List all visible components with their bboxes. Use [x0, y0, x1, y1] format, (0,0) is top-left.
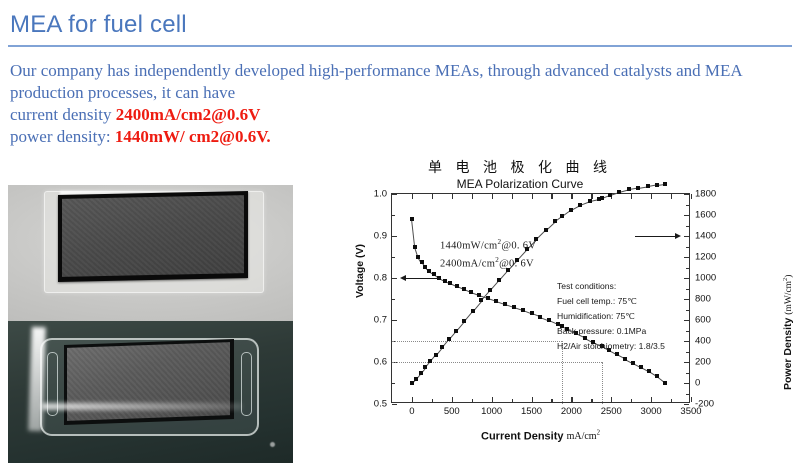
chart-plot-area: 0.50.60.70.80.91.0-200020040060080010001… — [391, 193, 690, 403]
data-point — [443, 279, 447, 283]
title-underline — [8, 45, 792, 47]
x-axis-label-text: Current Density — [481, 430, 567, 442]
x-axis-top-tick — [452, 194, 453, 199]
x-axis-tick-label: 2500 — [601, 402, 622, 417]
y-axis-right-minor-tick — [686, 268, 689, 269]
x-axis-minor-tick — [671, 399, 672, 402]
data-point — [639, 365, 643, 369]
data-point — [530, 311, 534, 315]
current-density-value: 2400mA/cm2@0.6V — [116, 105, 261, 124]
data-point — [647, 369, 651, 373]
y-axis-right-tick-label: 1000 — [689, 273, 716, 284]
data-point — [477, 293, 481, 297]
mea-membrane-top — [58, 191, 248, 282]
x-axis-top-tick — [532, 194, 533, 199]
data-point — [416, 255, 420, 259]
x-axis-minor-tick — [591, 399, 592, 402]
data-point — [623, 357, 627, 361]
y-axis-left-tick-label: 0.5 — [374, 399, 392, 410]
y-axis-right-minor-tick — [686, 310, 689, 311]
data-point — [447, 337, 451, 341]
data-point — [462, 319, 466, 323]
data-point — [627, 187, 631, 191]
data-point — [454, 329, 458, 333]
mea-sample-photo-bottom — [8, 321, 293, 463]
left-axis-arrow-line — [406, 278, 440, 279]
photo-glare-horizontal — [42, 403, 242, 410]
data-point — [471, 309, 475, 313]
y-axis-right-label: Power Density (mW/cm2) — [782, 275, 794, 390]
x-axis-label: Current Density mA/cm2 — [391, 430, 690, 442]
x-axis-top-minor-tick — [432, 194, 433, 199]
y-axis-right-tick-label: 1800 — [689, 189, 716, 200]
y-axis-right-minor-tick — [686, 331, 689, 332]
x-axis-top-tick — [571, 194, 572, 199]
data-point — [486, 296, 490, 300]
data-point — [414, 377, 418, 381]
y-axis-right-minor-tick — [686, 205, 689, 206]
data-point — [494, 299, 498, 303]
y-axis-left-tick — [392, 320, 397, 321]
guide-line-horizontal — [392, 341, 562, 342]
y-axis-right-minor-tick — [686, 247, 689, 248]
series-connector — [411, 219, 415, 248]
data-point — [455, 284, 459, 288]
data-point — [608, 193, 612, 197]
y-axis-right-tick-label: 0 — [689, 378, 700, 389]
data-point — [420, 260, 424, 264]
data-point — [448, 281, 452, 285]
data-point — [615, 352, 619, 356]
y-axis-left-tick-label: 1.0 — [374, 189, 392, 200]
data-point — [469, 290, 473, 294]
y-axis-left-tick — [392, 194, 397, 195]
test-condition-line: Back pressure: 0.1MPa — [557, 326, 646, 336]
data-point — [419, 371, 423, 375]
x-axis-tick-label: 1500 — [521, 402, 542, 417]
data-point — [497, 278, 501, 282]
y-axis-right-tick-label: 1400 — [689, 231, 716, 242]
y-axis-right-tick-label: 400 — [689, 336, 711, 347]
left-axis-arrow-head — [400, 275, 406, 281]
y-axis-right-minor-tick — [686, 373, 689, 374]
x-axis-tick-label: 2000 — [561, 402, 582, 417]
y-axis-left-tick-label: 0.9 — [374, 231, 392, 242]
x-axis-top-tick — [492, 194, 493, 199]
chart-title-chinese: 单 电 池 极 化 曲 线 — [352, 157, 688, 177]
y-axis-right-tick-label: 200 — [689, 357, 711, 368]
data-point — [655, 374, 659, 378]
mea-membrane-surface-top — [62, 195, 244, 277]
data-point — [569, 208, 573, 212]
body-line-3: current density 2400mA/cm2@0.6V — [10, 104, 795, 126]
data-point — [655, 183, 659, 187]
y-axis-right-tick-label: 600 — [689, 315, 711, 326]
x-axis-minor-tick — [631, 399, 632, 402]
y-axis-left-minor-tick — [392, 299, 395, 300]
data-point — [578, 203, 582, 207]
y-axis-right-tick-label: 1600 — [689, 210, 716, 221]
y-axis-left-tick-label: 0.8 — [374, 273, 392, 284]
y-axis-left-minor-tick — [392, 383, 395, 384]
x-axis-minor-tick — [432, 399, 433, 402]
mea-sample-photo-top — [8, 185, 293, 321]
data-point — [413, 245, 417, 249]
y-axis-right-minor-tick — [686, 226, 689, 227]
data-point — [600, 196, 604, 200]
data-point — [547, 318, 551, 322]
test-condition-line: H2/Air stoichiometry: 1.8/3.5 — [557, 341, 665, 351]
data-point — [434, 353, 438, 357]
body-line-4-prefix: power density: — [10, 127, 115, 146]
data-point — [423, 365, 427, 369]
y-axis-right-label-text: Power Density — [782, 315, 794, 390]
data-point — [538, 315, 542, 319]
test-condition-line: Test conditions: — [557, 281, 616, 291]
data-point — [521, 308, 525, 312]
data-point — [488, 288, 492, 292]
data-point — [440, 345, 444, 349]
y-axis-left-tick — [392, 236, 397, 237]
x-axis-minor-tick — [551, 399, 552, 402]
body-line-2: production processes, it can have — [10, 82, 795, 104]
x-axis-top-tick — [691, 194, 692, 199]
y-axis-right-tick-label: 800 — [689, 294, 711, 305]
y-axis-right-minor-tick — [686, 289, 689, 290]
data-point — [617, 190, 621, 194]
y-axis-right-tick-label: 1200 — [689, 252, 716, 263]
guide-line-horizontal — [392, 362, 602, 363]
x-axis-minor-tick — [472, 399, 473, 402]
x-axis-tick-label: 500 — [444, 402, 460, 417]
data-point — [428, 359, 432, 363]
y-axis-left-tick-label: 0.7 — [374, 315, 392, 326]
test-condition-line: Humidification: 75℃ — [557, 311, 635, 322]
slide-root: MEA for fuel cell Our company has indepe… — [0, 0, 800, 467]
right-axis-arrow-line — [635, 236, 675, 237]
data-point — [432, 272, 436, 276]
data-point — [663, 381, 667, 385]
y-axis-left-minor-tick — [392, 215, 395, 216]
data-point — [410, 381, 414, 385]
power-density-value: 1440mW/ cm2@0.6V. — [115, 127, 271, 146]
y-axis-right-unit: (mW/cm2) — [784, 275, 794, 315]
y-axis-left-tick — [392, 404, 397, 405]
x-axis-top-minor-tick — [551, 194, 552, 199]
test-condition-line: Fuel cell temp.: 75℃ — [557, 296, 637, 307]
guide-line-vertical — [602, 362, 603, 404]
data-point — [503, 302, 507, 306]
y-axis-left-minor-tick — [392, 257, 395, 258]
page-title: MEA for fuel cell — [10, 11, 187, 39]
data-point — [479, 298, 483, 302]
x-axis-top-minor-tick — [512, 194, 513, 199]
y-axis-left-tick-label: 0.6 — [374, 357, 392, 368]
x-axis-tick-label: 0 — [409, 402, 414, 417]
data-point — [427, 269, 431, 273]
x-axis-minor-tick — [512, 399, 513, 402]
y-axis-right-minor-tick — [686, 352, 689, 353]
photo-group — [8, 185, 293, 463]
data-point — [583, 336, 587, 340]
y-axis-left-label: Voltage (V) — [354, 244, 366, 298]
data-point — [646, 184, 650, 188]
chart-annotation: 2400mA/cm2@0. 6V — [440, 256, 534, 270]
x-axis-top-tick — [412, 194, 413, 199]
y-axis-right-minor-tick — [686, 394, 689, 395]
y-axis-left-tick — [392, 278, 397, 279]
data-point — [512, 305, 516, 309]
data-point — [631, 361, 635, 365]
data-point — [560, 214, 564, 218]
x-axis-top-minor-tick — [472, 194, 473, 199]
x-axis-unit: mA/cm2 — [567, 431, 600, 442]
x-axis-top-tick — [651, 194, 652, 199]
body-line-4: power density: 1440mW/ cm2@0.6V. — [10, 126, 795, 148]
mea-membrane-bottom — [64, 339, 234, 425]
data-point — [663, 182, 667, 186]
data-point — [636, 186, 640, 190]
x-axis-tick-label: 3000 — [641, 402, 662, 417]
body-line-1: Our company has independently developed … — [10, 60, 795, 82]
x-axis-top-minor-tick — [631, 194, 632, 199]
polarization-chart: 单 电 池 极 化 曲 线 MEA Polarization Curve 0.5… — [352, 155, 796, 455]
data-point — [462, 287, 466, 291]
x-axis-tick-label: 3500 — [680, 402, 701, 417]
data-point — [588, 199, 592, 203]
data-point — [410, 217, 414, 221]
right-axis-arrow-head — [675, 233, 681, 239]
data-point — [544, 228, 548, 232]
x-axis-top-minor-tick — [671, 194, 672, 199]
body-line-3-prefix: current density — [10, 105, 116, 124]
x-axis-tick-label: 1000 — [481, 402, 502, 417]
body-paragraph: Our company has independently developed … — [10, 60, 795, 148]
data-point — [553, 219, 557, 223]
chart-annotation: 1440mW/cm2@0. 6V — [440, 238, 536, 252]
photo-specular-dot — [270, 442, 275, 447]
